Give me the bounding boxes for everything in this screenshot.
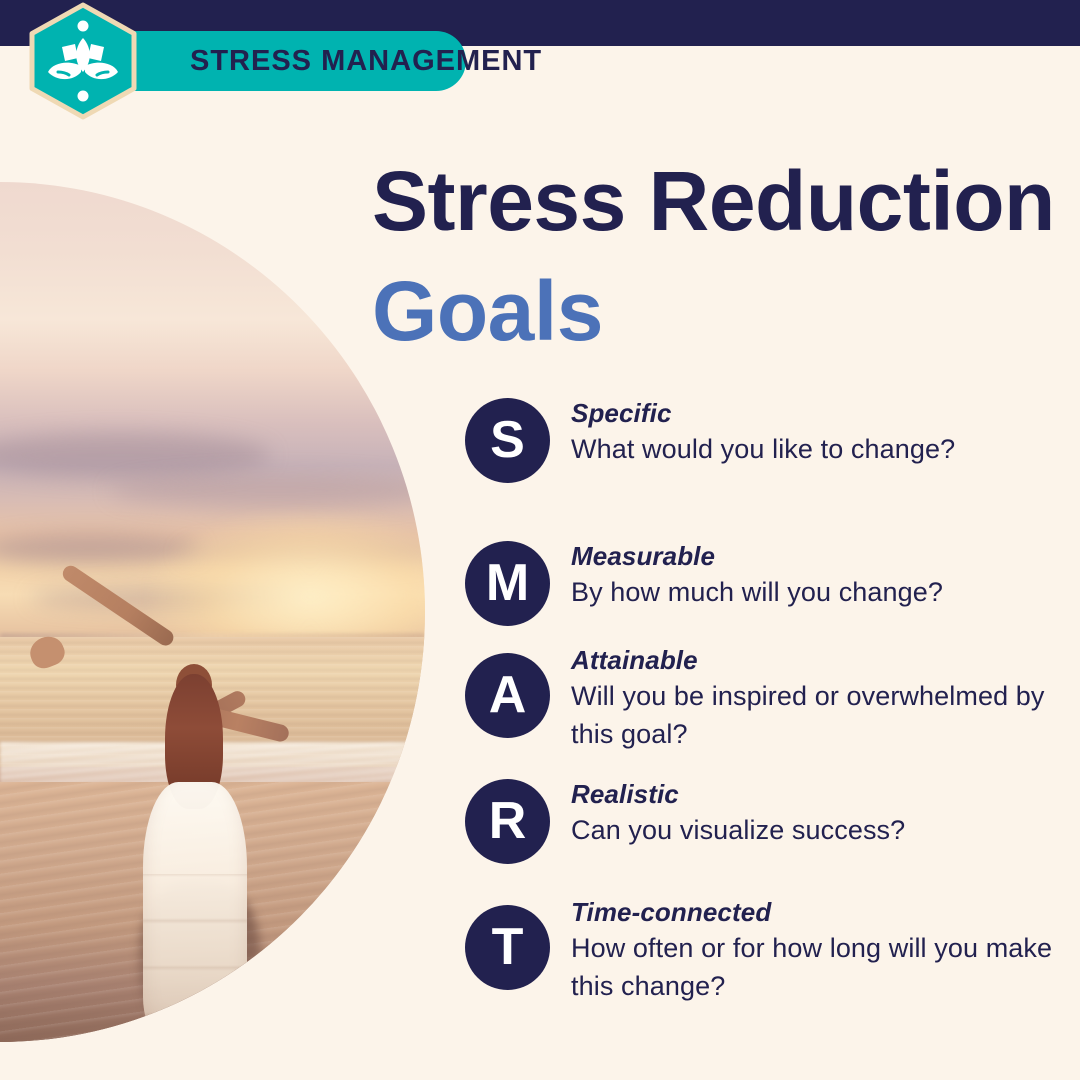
smart-item-title: Time-connected: [571, 895, 1071, 929]
lotus-flower-icon: [24, 2, 142, 120]
smart-letter-badge: S: [465, 398, 550, 483]
figure-dress: [143, 782, 247, 1032]
smart-text-block: Realistic Can you visualize success?: [571, 777, 1071, 849]
page-title-line-1: Stress Reduction: [372, 152, 1055, 250]
smart-item-description: By how much will you change?: [571, 573, 1071, 611]
page-title-line-2: Goals: [372, 262, 603, 360]
smart-item-description: Will you be inspired or overwhelmed by t…: [571, 677, 1071, 753]
smart-text-block: Measurable By how much will you change?: [571, 539, 1071, 611]
smart-item-description: What would you like to change?: [571, 430, 1071, 468]
smart-item-description: Can you visualize success?: [571, 811, 1071, 849]
smart-text-block: Time-connected How often or for how long…: [571, 895, 1071, 1005]
poster-canvas: #LMWEEK STRESS MANAGEMENT Stress Reducti…: [0, 0, 1080, 1080]
smart-item-title: Attainable: [571, 643, 1071, 677]
smart-item-title: Measurable: [571, 539, 1071, 573]
smart-letter-badge: M: [465, 541, 550, 626]
smart-letter-badge: R: [465, 779, 550, 864]
smart-item-title: Realistic: [571, 777, 1071, 811]
smart-item-description: How often or for how long will you make …: [571, 929, 1071, 1005]
cloud-shape: [110, 474, 425, 508]
smart-text-block: Attainable Will you be inspired or overw…: [571, 643, 1071, 753]
smart-text-block: Specific What would you like to change?: [571, 396, 1071, 468]
smart-letter-badge: T: [465, 905, 550, 990]
photo-inner: [0, 182, 425, 1042]
woman-on-beach-at-sunset-photo: [0, 182, 425, 1042]
brand-label: STRESS MANAGEMENT: [190, 31, 480, 91]
smart-item-title: Specific: [571, 396, 1071, 430]
smart-letter-badge: A: [465, 653, 550, 738]
